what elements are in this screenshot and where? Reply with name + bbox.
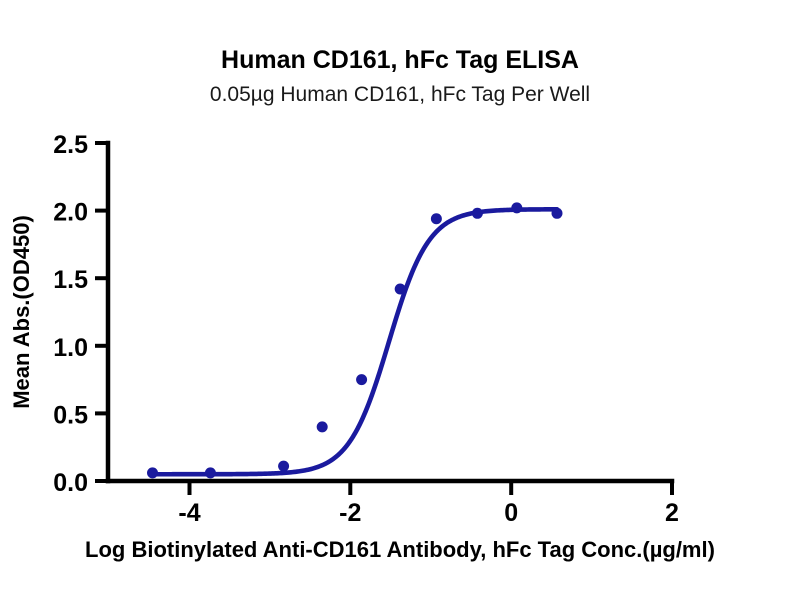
y-tick-label-2.0: 2.0 — [53, 199, 88, 227]
chart-title: Human CD161, hFc Tag ELISA — [221, 46, 579, 74]
y-tick-label-2.5: 2.5 — [53, 131, 88, 159]
x-tick-label--2: -2 — [339, 499, 361, 527]
y-axis-label: Mean Abs.(OD450) — [9, 215, 34, 409]
x-tick-label-2: 2 — [665, 499, 679, 527]
data-point — [317, 421, 328, 432]
data-point — [278, 461, 289, 472]
y-tick-label-0.0: 0.0 — [53, 469, 88, 497]
data-point — [356, 374, 367, 385]
chart-subtitle: 0.05µg Human CD161, hFc Tag Per Well — [210, 83, 590, 106]
y-tick-label-0.5: 0.5 — [53, 401, 88, 429]
x-tick-label--4: -4 — [178, 499, 200, 527]
x-axis-label: Log Biotinylated Anti-CD161 Antibody, hF… — [85, 537, 715, 562]
x-tick-label-0: 0 — [504, 499, 518, 527]
y-tick-label-1.5: 1.5 — [53, 266, 88, 294]
y-tick-label-1.0: 1.0 — [53, 334, 88, 362]
data-point — [511, 202, 522, 213]
elisa-dose-response-chart: Human CD161, hFc Tag ELISA 0.05µg Human … — [0, 0, 800, 600]
data-point — [472, 208, 483, 219]
data-point — [205, 467, 216, 478]
data-point — [431, 213, 442, 224]
data-point — [147, 467, 158, 478]
data-point — [552, 208, 563, 219]
data-point — [395, 284, 406, 295]
